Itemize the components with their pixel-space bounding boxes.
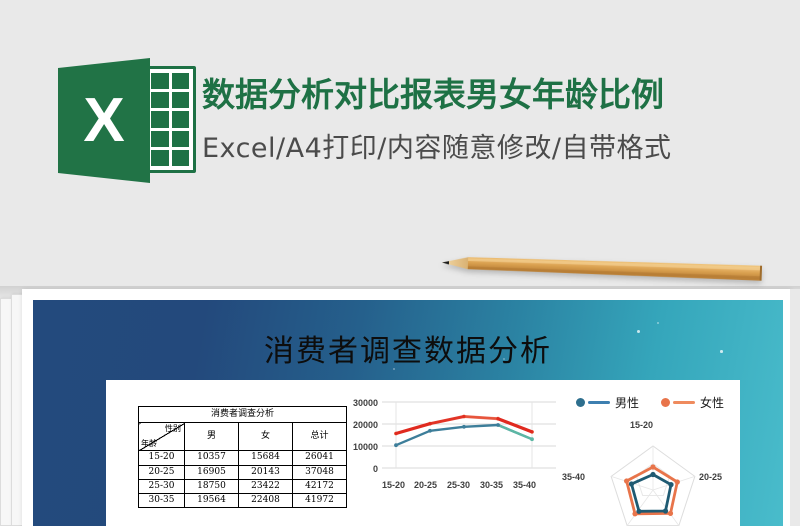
cell-age: 25-30: [139, 479, 185, 493]
corner-label-sex: 性别: [165, 424, 181, 434]
legend-item-female[interactable]: 女性: [661, 394, 724, 411]
page-subtitle: Excel/A4打印/内容随意修改/自带格式: [202, 126, 671, 165]
y-tick-20000: 20000: [334, 420, 378, 430]
x-tick-30-35: 30-35: [480, 480, 503, 490]
pencil-icon: [442, 254, 762, 282]
radar-label-left: 35-40: [562, 472, 585, 482]
line-chart-plot: [382, 396, 556, 478]
cell-female: 15684: [239, 451, 293, 465]
radar-chart: 15-20 20-25 35-40: [566, 420, 740, 526]
y-tick-0: 0: [334, 464, 378, 474]
cell-female: 23422: [239, 479, 293, 493]
radar-label-top: 15-20: [630, 420, 653, 430]
page-title: 数据分析对比报表男女年龄比例: [202, 68, 664, 116]
cell-age: 30-35: [139, 494, 185, 508]
survey-data-table: 消费者调查分析 性别 年龄 男 女 总计 15-20 10357: [138, 406, 347, 508]
table-row: 20-25 16905 20143 37048: [139, 465, 347, 479]
line-chart: 30000 20000 10000 0: [334, 396, 556, 526]
x-tick-25-30: 25-30: [447, 480, 470, 490]
x-tick-35-40: 35-40: [513, 480, 536, 490]
table-caption: 消费者调查分析: [139, 407, 347, 423]
column-header-male: 男: [185, 423, 239, 451]
legend-marker-icon: [661, 398, 670, 407]
legend-line-icon: [588, 401, 610, 404]
header-banner: X 数据分析对比报表男女年龄比例 Excel/A4打印/内容随意修改/自带格式: [0, 0, 800, 232]
corner-label-age: 年龄: [141, 439, 157, 449]
cell-female: 22408: [239, 494, 293, 508]
legend-label-female: 女性: [700, 394, 724, 411]
cell-male: 10357: [185, 451, 239, 465]
cell-female: 20143: [239, 465, 293, 479]
slide-background: 消费者调查数据分析 消费者调查分析 性别 年龄 男 女 总计: [33, 300, 783, 526]
cell-male: 16905: [185, 465, 239, 479]
document-sheet: 消费者调查数据分析 消费者调查分析 性别 年龄 男 女 总计: [22, 289, 790, 526]
table-row: 25-30 18750 23422 42172: [139, 479, 347, 493]
y-tick-10000: 10000: [334, 442, 378, 452]
page-root: X 数据分析对比报表男女年龄比例 Excel/A4打印/内容随意修改/自带格式: [0, 0, 800, 526]
cell-age: 15-20: [139, 451, 185, 465]
excel-logo: X: [58, 58, 198, 183]
table-caption-row: 消费者调查分析: [139, 407, 347, 423]
cell-male: 19564: [185, 494, 239, 508]
table-header-row: 性别 年龄 男 女 总计: [139, 423, 347, 451]
table-row: 15-20 10357 15684 26041: [139, 451, 347, 465]
x-tick-15-20: 15-20: [382, 480, 405, 490]
chart-legend: 男性 女性: [576, 394, 724, 411]
sparkle-icon: [657, 322, 659, 324]
y-tick-30000: 30000: [334, 398, 378, 408]
cell-age: 20-25: [139, 465, 185, 479]
excel-logo-letter: X: [58, 58, 150, 183]
legend-line-icon: [673, 401, 695, 404]
x-tick-20-25: 20-25: [414, 480, 437, 490]
legend-label-male: 男性: [615, 394, 639, 411]
cell-male: 18750: [185, 479, 239, 493]
legend-marker-icon: [576, 398, 585, 407]
table-corner-cell: 性别 年龄: [139, 423, 185, 451]
radar-chart-plot: [588, 434, 718, 526]
column-header-female: 女: [239, 423, 293, 451]
table-row: 30-35 19564 22408 41972: [139, 494, 347, 508]
slide-title: 消费者调查数据分析: [33, 326, 783, 370]
legend-item-male[interactable]: 男性: [576, 394, 639, 411]
slide-content-panel: 消费者调查分析 性别 年龄 男 女 总计 15-20 10357: [106, 380, 740, 526]
page-right-margin: [790, 289, 800, 526]
